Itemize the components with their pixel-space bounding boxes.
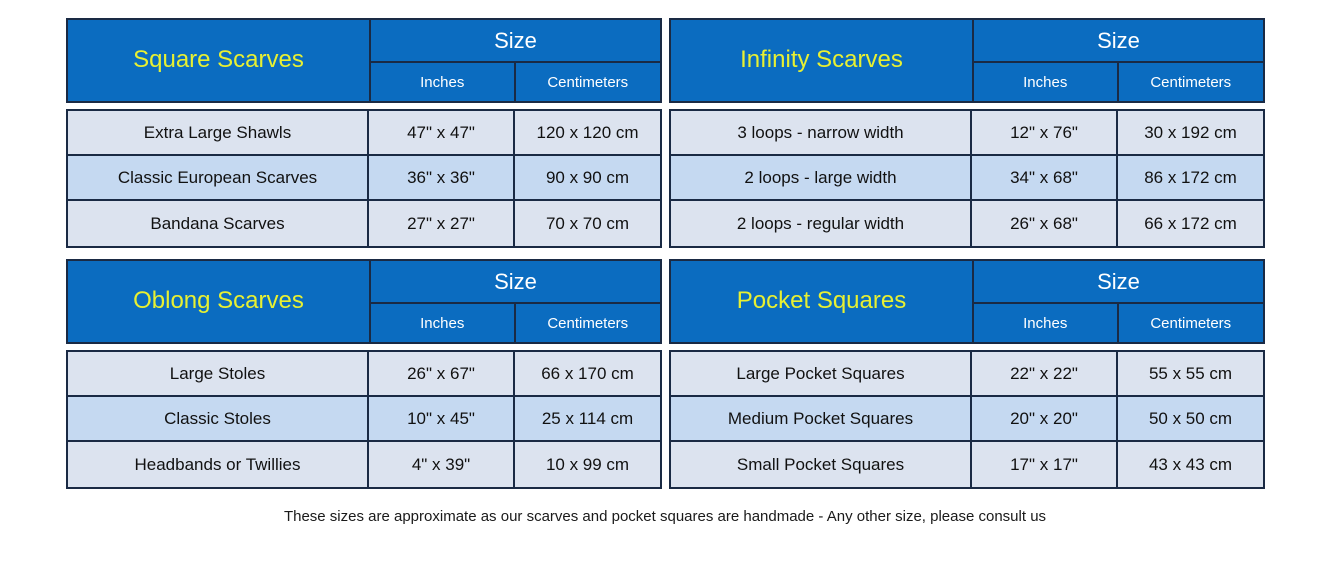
row-label: Classic European Scarves: [68, 156, 369, 199]
centimeters-column-header: Centimeters: [1119, 304, 1264, 342]
table-body: Extra Large Shawls 47" x 47" 120 x 120 c…: [66, 109, 662, 248]
table-body: Large Pocket Squares 22" x 22" 55 x 55 c…: [669, 350, 1265, 489]
row-inches-value: 27" x 27": [369, 201, 515, 246]
table-row: Large Stoles 26" x 67" 66 x 170 cm: [68, 352, 660, 397]
size-table-square-scarves: Square Scarves Size Inches Centimeters E…: [66, 18, 662, 248]
table-row: Small Pocket Squares 17" x 17" 43 x 43 c…: [671, 442, 1263, 487]
table-row: Bandana Scarves 27" x 27" 70 x 70 cm: [68, 201, 660, 246]
row-centimeters-value: 66 x 172 cm: [1118, 201, 1263, 246]
disclaimer-note: These sizes are approximate as our scarv…: [0, 508, 1330, 525]
row-inches-value: 47" x 47": [369, 111, 515, 154]
centimeters-column-header: Centimeters: [516, 63, 661, 101]
table-row: Headbands or Twillies 4" x 39" 10 x 99 c…: [68, 442, 660, 487]
row-inches-value: 20" x 20": [972, 397, 1118, 440]
row-label: Extra Large Shawls: [68, 111, 369, 154]
row-inches-value: 10" x 45": [369, 397, 515, 440]
row-centimeters-value: 50 x 50 cm: [1118, 397, 1263, 440]
row-label: Classic Stoles: [68, 397, 369, 440]
row-centimeters-value: 25 x 114 cm: [515, 397, 660, 440]
row-centimeters-value: 86 x 172 cm: [1118, 156, 1263, 199]
inches-column-header: Inches: [371, 63, 516, 101]
inches-column-header: Inches: [974, 304, 1119, 342]
row-inches-value: 26" x 67": [369, 352, 515, 395]
table-row: Classic Stoles 10" x 45" 25 x 114 cm: [68, 397, 660, 442]
row-inches-value: 12" x 76": [972, 111, 1118, 154]
row-centimeters-value: 70 x 70 cm: [515, 201, 660, 246]
row-centimeters-value: 55 x 55 cm: [1118, 352, 1263, 395]
row-label: 2 loops - regular width: [671, 201, 972, 246]
size-column-label: Size: [974, 261, 1263, 304]
row-label: Bandana Scarves: [68, 201, 369, 246]
table-row: 2 loops - regular width 26" x 68" 66 x 1…: [671, 201, 1263, 246]
row-label: 3 loops - narrow width: [671, 111, 972, 154]
unit-header-row: Inches Centimeters: [974, 304, 1263, 342]
row-centimeters-value: 10 x 99 cm: [515, 442, 660, 487]
centimeters-column-header: Centimeters: [1119, 63, 1264, 101]
size-header-group: Size Inches Centimeters: [371, 261, 660, 342]
row-label: Large Pocket Squares: [671, 352, 972, 395]
size-table-oblong-scarves: Oblong Scarves Size Inches Centimeters L…: [66, 259, 662, 489]
size-column-label: Size: [371, 20, 660, 63]
table-title: Oblong Scarves: [68, 261, 371, 342]
table-row: 2 loops - large width 34" x 68" 86 x 172…: [671, 156, 1263, 201]
table-row: 3 loops - narrow width 12" x 76" 30 x 19…: [671, 111, 1263, 156]
table-header: Square Scarves Size Inches Centimeters: [66, 18, 662, 103]
row-label: Headbands or Twillies: [68, 442, 369, 487]
table-header: Pocket Squares Size Inches Centimeters: [669, 259, 1265, 344]
unit-header-row: Inches Centimeters: [371, 304, 660, 342]
row-label: Small Pocket Squares: [671, 442, 972, 487]
row-label: Medium Pocket Squares: [671, 397, 972, 440]
size-table-pocket-squares: Pocket Squares Size Inches Centimeters L…: [669, 259, 1265, 489]
size-chart-page: Square Scarves Size Inches Centimeters E…: [0, 0, 1330, 570]
size-header-group: Size Inches Centimeters: [974, 261, 1263, 342]
inches-column-header: Inches: [974, 63, 1119, 101]
row-label: 2 loops - large width: [671, 156, 972, 199]
table-body: 3 loops - narrow width 12" x 76" 30 x 19…: [669, 109, 1265, 248]
size-header-group: Size Inches Centimeters: [371, 20, 660, 101]
size-table-infinity-scarves: Infinity Scarves Size Inches Centimeters…: [669, 18, 1265, 248]
size-column-label: Size: [371, 261, 660, 304]
row-inches-value: 36" x 36": [369, 156, 515, 199]
size-column-label: Size: [974, 20, 1263, 63]
row-inches-value: 17" x 17": [972, 442, 1118, 487]
size-tables-grid: Square Scarves Size Inches Centimeters E…: [66, 18, 1265, 489]
table-header: Infinity Scarves Size Inches Centimeters: [669, 18, 1265, 103]
row-centimeters-value: 120 x 120 cm: [515, 111, 660, 154]
table-header: Oblong Scarves Size Inches Centimeters: [66, 259, 662, 344]
table-title: Pocket Squares: [671, 261, 974, 342]
row-centimeters-value: 66 x 170 cm: [515, 352, 660, 395]
row-inches-value: 4" x 39": [369, 442, 515, 487]
table-row: Medium Pocket Squares 20" x 20" 50 x 50 …: [671, 397, 1263, 442]
row-inches-value: 22" x 22": [972, 352, 1118, 395]
row-centimeters-value: 30 x 192 cm: [1118, 111, 1263, 154]
unit-header-row: Inches Centimeters: [974, 63, 1263, 101]
unit-header-row: Inches Centimeters: [371, 63, 660, 101]
table-row: Classic European Scarves 36" x 36" 90 x …: [68, 156, 660, 201]
table-body: Large Stoles 26" x 67" 66 x 170 cm Class…: [66, 350, 662, 489]
table-title: Square Scarves: [68, 20, 371, 101]
row-inches-value: 34" x 68": [972, 156, 1118, 199]
row-label: Large Stoles: [68, 352, 369, 395]
table-row: Extra Large Shawls 47" x 47" 120 x 120 c…: [68, 111, 660, 156]
row-inches-value: 26" x 68": [972, 201, 1118, 246]
row-centimeters-value: 90 x 90 cm: [515, 156, 660, 199]
table-title: Infinity Scarves: [671, 20, 974, 101]
size-header-group: Size Inches Centimeters: [974, 20, 1263, 101]
table-row: Large Pocket Squares 22" x 22" 55 x 55 c…: [671, 352, 1263, 397]
row-centimeters-value: 43 x 43 cm: [1118, 442, 1263, 487]
inches-column-header: Inches: [371, 304, 516, 342]
centimeters-column-header: Centimeters: [516, 304, 661, 342]
